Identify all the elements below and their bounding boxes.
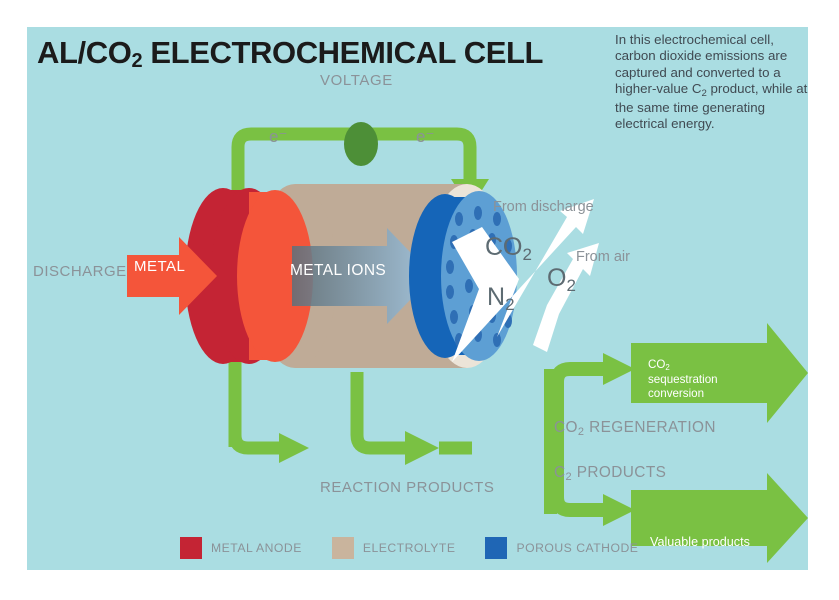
right-trunk-wire: [544, 369, 557, 514]
n2-gas-label: N2: [487, 283, 515, 312]
legend-item-electrolyte: ELECTROLYTE: [332, 537, 456, 559]
seq-co2-text: CO: [648, 358, 665, 371]
discharge-label: DISCHARGE: [33, 263, 127, 280]
co2-regen-text: CO: [554, 419, 578, 436]
legend-label-porous-cathode: POROUS CATHODE: [516, 541, 638, 555]
n2-text: N: [487, 283, 505, 311]
o2-text: O: [547, 264, 566, 292]
diagram-canvas: AL/CO2 ELECTROCHEMICAL CELL In this elec…: [27, 27, 808, 570]
seq-line3: conversion: [648, 387, 704, 400]
seq-line2: sequestration: [648, 373, 718, 386]
co2-regen-rest: REGENERATION: [584, 419, 715, 436]
figure-stage: AL/CO2 ELECTROCHEMICAL CELL In this elec…: [0, 0, 839, 600]
legend: METAL ANODE ELECTROLYTE POROUS CATHODE: [180, 537, 638, 559]
legend-label-metal-anode: METAL ANODE: [211, 541, 302, 555]
o2-gas-label: O2: [547, 264, 576, 293]
valuable-products-arrow-label: Valuable products: [650, 535, 750, 549]
legend-item-porous-cathode: POROUS CATHODE: [485, 537, 638, 559]
c2-products-label: C2 PRODUCTS: [554, 464, 666, 482]
reaction-products-label: REACTION PRODUCTS: [320, 479, 494, 496]
legend-swatch-electrolyte: [332, 537, 354, 559]
from-discharge-label: From discharge: [493, 199, 594, 215]
o2-subscript: 2: [566, 276, 575, 295]
c2-products-text: C: [554, 464, 566, 481]
co2-gas-label: CO2: [485, 233, 532, 262]
legend-swatch-metal-anode: [180, 537, 202, 559]
metal-ions-label: METAL IONS: [290, 262, 386, 280]
co2-regen-subscript: 2: [578, 426, 585, 438]
co2-regeneration-label: CO2 REGENERATION: [554, 419, 716, 437]
legend-item-metal-anode: METAL ANODE: [180, 537, 302, 559]
voltage-node-icon: [344, 122, 378, 166]
sequestration-arrow-label: CO2sequestrationconversion: [648, 358, 718, 401]
n2-subscript: 2: [505, 295, 514, 314]
c2-products-subscript: 2: [566, 471, 573, 483]
seq-co2-subscript: 2: [665, 363, 669, 372]
co2-subscript: 2: [523, 245, 532, 264]
legend-swatch-porous-cathode: [485, 537, 507, 559]
legend-label-electrolyte: ELECTROLYTE: [363, 541, 456, 555]
co2-text: CO: [485, 233, 523, 261]
from-air-label: From air: [576, 249, 630, 265]
metal-arrow-label: METAL: [134, 258, 185, 275]
c2-products-rest: PRODUCTS: [572, 464, 666, 481]
